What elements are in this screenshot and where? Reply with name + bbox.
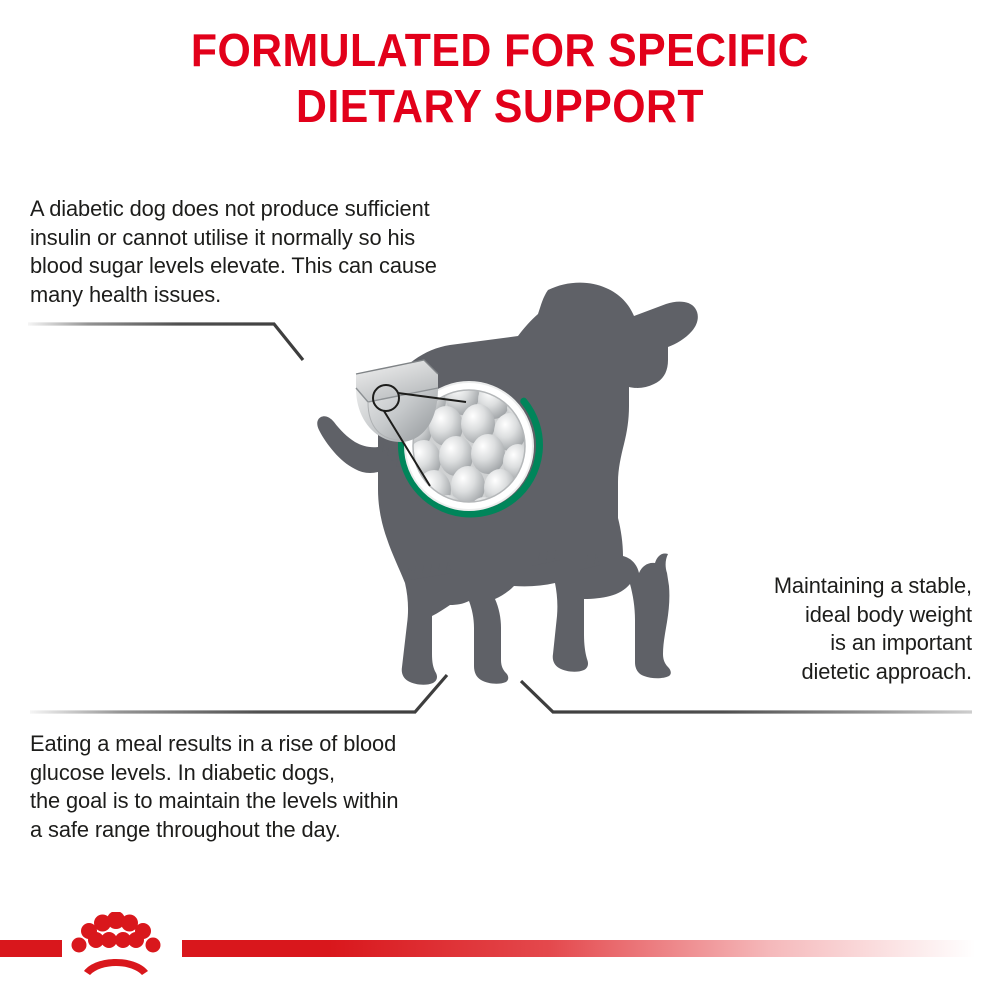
callout-text-bottom-left: Eating a meal results in a rise of blood…	[30, 730, 534, 844]
kibble-callout	[338, 338, 568, 528]
royal-canin-crown-icon	[68, 912, 164, 978]
footer-bar-right	[182, 940, 1000, 957]
leader-line-top-left	[28, 324, 303, 360]
callout-text-right: Maintaining a stable, ideal body weight …	[642, 572, 972, 686]
kibble-piece	[356, 360, 438, 442]
page-title: FORMULATED FOR SPECIFIC DIETARY SUPPORT	[35, 22, 965, 134]
callout-text-top-left: A diabetic dog does not produce sufficie…	[30, 195, 534, 309]
infographic-page: FORMULATED FOR SPECIFIC DIETARY SUPPORT	[0, 0, 1000, 1000]
footer-bar-left	[0, 940, 62, 957]
